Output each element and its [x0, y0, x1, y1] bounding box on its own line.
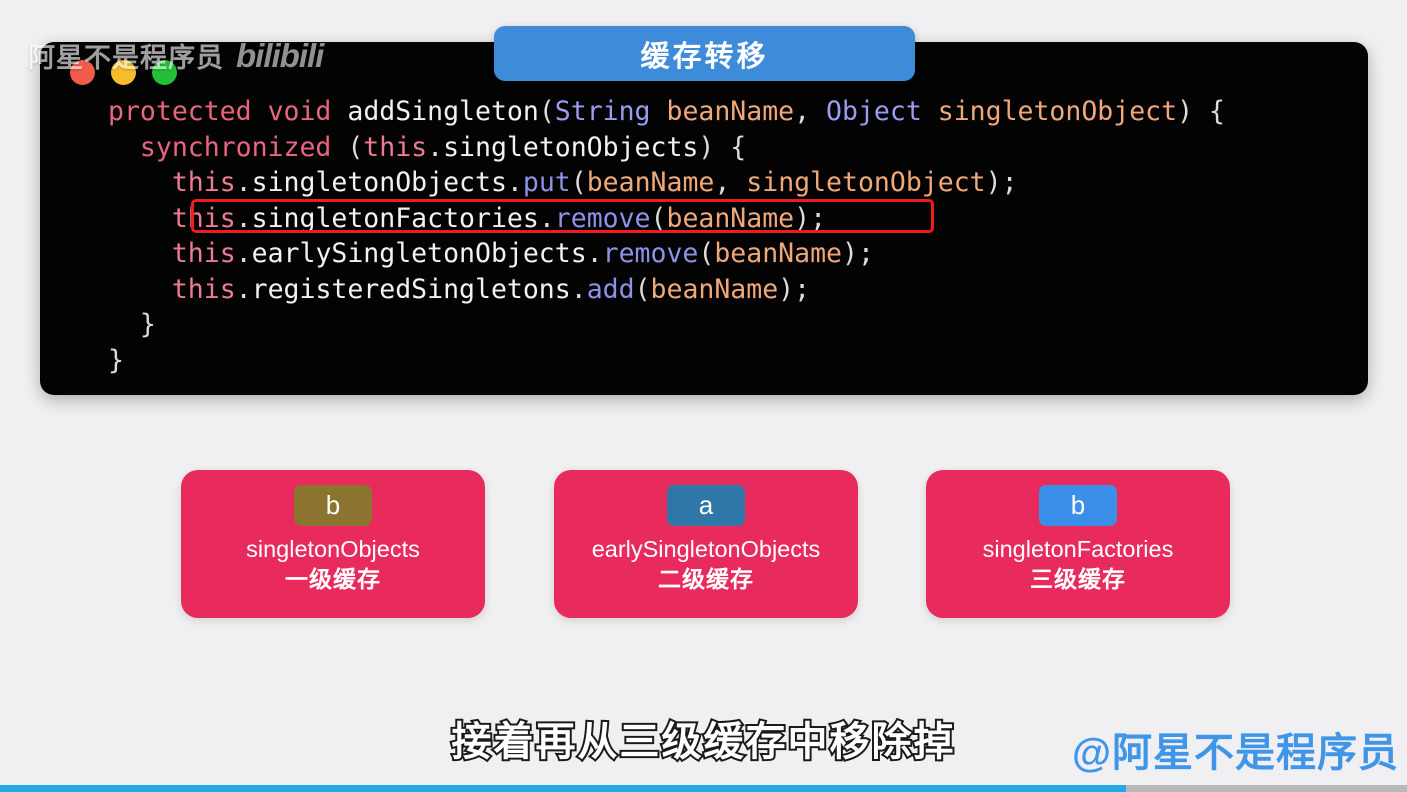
code-token: beanName: [651, 274, 779, 305]
code-token: .: [236, 274, 252, 305]
code-token: add: [587, 274, 635, 305]
code-token: this: [172, 274, 236, 305]
code-line: protected void addSingleton(String beanN…: [40, 94, 1368, 130]
code-token: );: [986, 167, 1018, 198]
cache-card-badge: b: [294, 485, 372, 526]
code-token: Object: [826, 96, 922, 127]
cache-card-level: 二级缓存: [658, 564, 754, 594]
code-block: protected void addSingleton(String beanN…: [40, 94, 1368, 378]
code-token: .: [571, 274, 587, 305]
code-token: .: [236, 238, 252, 269]
code-token: singletonFactories: [252, 203, 539, 234]
code-token: singletonObject: [938, 96, 1177, 127]
code-token: addSingleton: [347, 96, 538, 127]
code-token: this: [172, 167, 236, 198]
code-token: earlySingletonObjects: [252, 238, 587, 269]
code-token: beanName: [714, 238, 842, 269]
code-token: .: [539, 203, 555, 234]
code-token: this: [172, 203, 236, 234]
title-banner: 缓存转移: [494, 26, 915, 81]
code-token: (: [571, 167, 587, 198]
cache-card-name: singletonFactories: [983, 534, 1174, 564]
code-token: [108, 238, 172, 269]
code-token: beanName: [587, 167, 715, 198]
cache-cards-row: bsingletonObjects一级缓存aearlySingletonObje…: [0, 470, 1407, 620]
code-token: (: [331, 132, 363, 163]
video-progress-bar[interactable]: [0, 785, 1407, 792]
author-handle-watermark: @阿星不是程序员: [1072, 720, 1399, 778]
code-token: void: [268, 96, 332, 127]
code-token: .: [427, 132, 443, 163]
code-token: remove: [555, 203, 651, 234]
code-token: this: [363, 132, 427, 163]
cache-card-badge: b: [1039, 485, 1117, 526]
code-token: String: [555, 96, 651, 127]
code-token: beanName: [666, 203, 794, 234]
code-token: .: [236, 167, 252, 198]
code-token: put: [523, 167, 571, 198]
code-token: ,: [714, 167, 746, 198]
code-token: synchronized: [140, 132, 331, 163]
code-token: [108, 274, 172, 305]
code-token: [108, 132, 140, 163]
code-line: }: [40, 307, 1368, 343]
maximize-button[interactable]: [152, 60, 177, 85]
code-line: this.earlySingletonObjects.remove(beanNa…: [40, 236, 1368, 272]
cache-card-level: 三级缓存: [1030, 564, 1126, 594]
code-token: [252, 96, 268, 127]
cache-card-level: 一级缓存: [285, 564, 381, 594]
code-token: );: [794, 203, 826, 234]
code-token: .: [507, 167, 523, 198]
code-token: (: [651, 203, 667, 234]
code-token: [108, 203, 172, 234]
code-line: }: [40, 343, 1368, 379]
code-token: );: [778, 274, 810, 305]
code-token: .: [587, 238, 603, 269]
code-line: synchronized (this.singletonObjects) {: [40, 130, 1368, 166]
code-token: registeredSingletons: [252, 274, 571, 305]
code-token: [922, 96, 938, 127]
code-token: singletonObjects: [443, 132, 698, 163]
code-token: (: [698, 238, 714, 269]
code-token: beanName: [666, 96, 794, 127]
code-token: remove: [603, 238, 699, 269]
code-token: (: [635, 274, 651, 305]
code-token: singletonObject: [746, 167, 985, 198]
video-progress-fill: [0, 785, 1126, 792]
cache-card-badge: a: [667, 485, 745, 526]
cache-card-name: singletonObjects: [246, 534, 420, 564]
code-token: [108, 167, 172, 198]
code-token: }: [108, 309, 156, 340]
code-token: );: [842, 238, 874, 269]
code-line-highlighted: this.singletonFactories.remove(beanName)…: [40, 201, 1368, 237]
code-panel: protected void addSingleton(String beanN…: [40, 42, 1368, 395]
code-token: [651, 96, 667, 127]
title-banner-text: 缓存转移: [640, 33, 768, 75]
cache-card-name: earlySingletonObjects: [592, 534, 821, 564]
code-line: this.registeredSingletons.add(beanName);: [40, 272, 1368, 308]
code-token: ) {: [698, 132, 746, 163]
code-token: this: [172, 238, 236, 269]
cache-card: bsingletonFactories三级缓存: [926, 470, 1230, 618]
code-token: .: [236, 203, 252, 234]
code-token: singletonObjects: [252, 167, 507, 198]
minimize-button[interactable]: [111, 60, 136, 85]
cache-card: bsingletonObjects一级缓存: [181, 470, 485, 618]
cache-card: aearlySingletonObjects二级缓存: [554, 470, 858, 618]
code-token: }: [108, 345, 124, 376]
code-token: protected: [108, 96, 252, 127]
code-token: ,: [794, 96, 826, 127]
code-token: [331, 96, 347, 127]
window-controls: [70, 60, 177, 85]
code-token: ) {: [1177, 96, 1225, 127]
close-button[interactable]: [70, 60, 95, 85]
code-token: (: [539, 96, 555, 127]
code-line: this.singletonObjects.put(beanName, sing…: [40, 165, 1368, 201]
